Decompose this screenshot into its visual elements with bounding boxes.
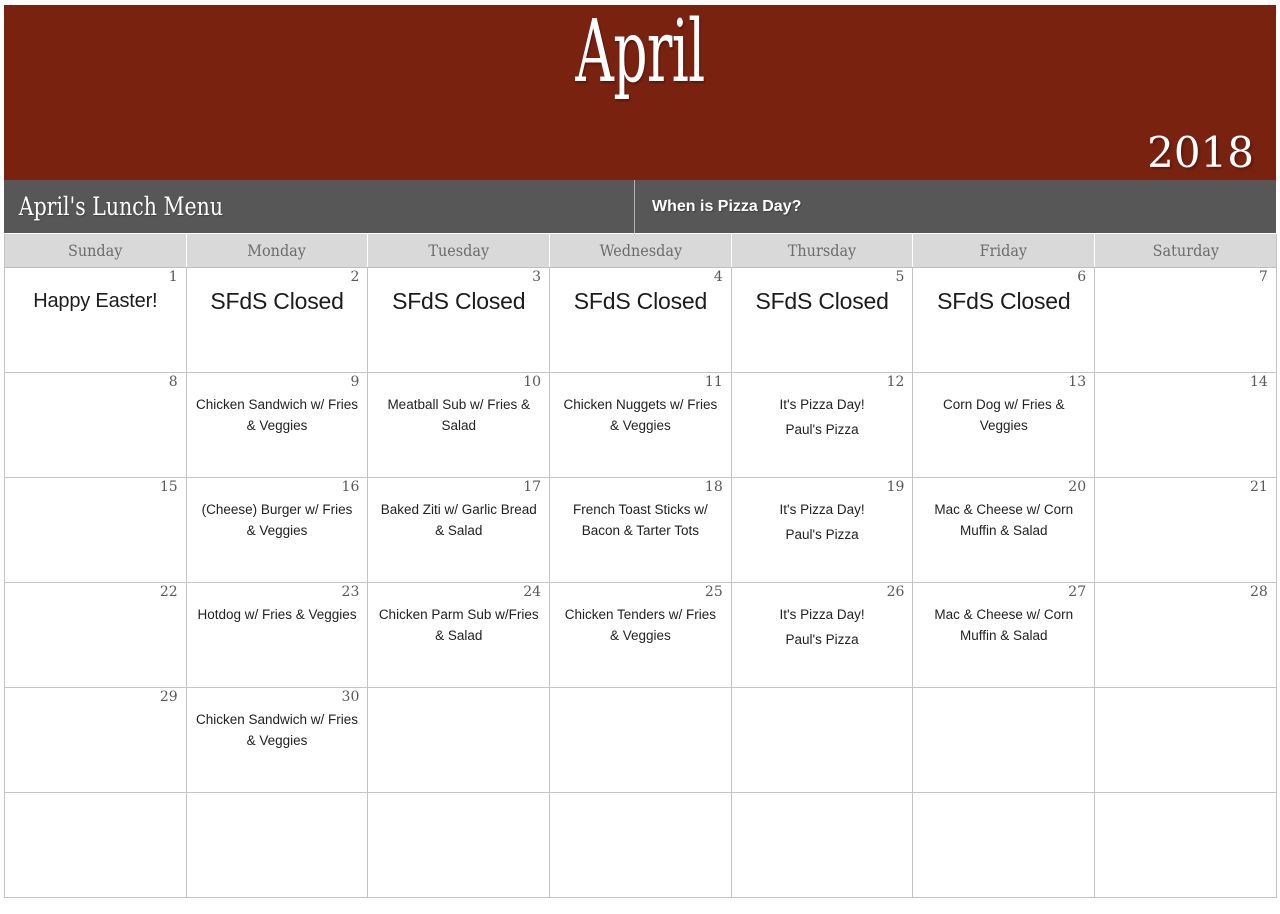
calendar-day-cell[interactable] [368,688,550,793]
weekday-header-friday: Friday [913,234,1095,268]
calendar-day-cell[interactable]: 3SFdS Closed [368,268,550,373]
day-number: 11 [705,375,723,390]
calendar-day-cell[interactable]: 26It's Pizza Day!Paul's Pizza [731,583,913,688]
weekday-label: Saturday [1152,241,1218,260]
calendar-day-cell[interactable]: 25Chicken Tenders w/ Fries & Veggies [550,583,732,688]
calendar-day-cell[interactable]: 5SFdS Closed [731,268,913,373]
day-number: 7 [1259,270,1268,285]
calendar-day-cell[interactable]: 16(Cheese) Burger w/ Fries & Veggies [186,478,368,583]
weekday-header-tuesday: Tuesday [368,234,550,268]
weekday-header-sunday: Sunday [5,234,187,268]
day-number: 25 [705,585,723,600]
day-menu-text: Chicken Nuggets w/ Fries & Veggies [550,373,731,441]
day-number: 24 [523,585,541,600]
calendar-day-cell[interactable]: 19It's Pizza Day!Paul's Pizza [731,478,913,583]
day-number: 2 [350,270,359,285]
subtitle-bar: April's Lunch Menu When is Pizza Day? [4,180,1276,233]
calendar-day-cell[interactable]: 18French Toast Sticks w/ Bacon & Tarter … [550,478,732,583]
day-number: 5 [896,270,905,285]
calendar-week-row [5,793,1277,898]
calendar-day-cell[interactable] [186,793,368,898]
day-number: 19 [887,480,905,495]
weekday-header-monday: Monday [186,234,368,268]
calendar-day-cell[interactable]: 22 [5,583,187,688]
day-menu-text: It's Pizza Day! [732,478,913,525]
calendar-day-cell[interactable]: 8 [5,373,187,478]
calendar-day-cell[interactable]: 24Chicken Parm Sub w/Fries & Salad [368,583,550,688]
day-number: 16 [342,480,360,495]
calendar-day-cell[interactable]: 17Baked Ziti w/ Garlic Bread & Salad [368,478,550,583]
day-number: 28 [1250,585,1268,600]
weekday-label: Sunday [68,241,122,260]
day-number: 9 [350,375,359,390]
calendar-day-cell[interactable]: 12It's Pizza Day!Paul's Pizza [731,373,913,478]
calendar-week-row: 2930Chicken Sandwich w/ Fries & Veggies [5,688,1277,793]
day-number: 30 [342,690,360,705]
calendar-week-row: 2223Hotdog w/ Fries & Veggies24Chicken P… [5,583,1277,688]
calendar-day-cell[interactable]: 1Happy Easter! [5,268,187,373]
day-number: 10 [523,375,541,390]
page-title: April [246,9,1035,95]
weekday-label: Wednesday [599,241,681,260]
month-banner: April 2018 [4,5,1276,180]
day-menu-text-secondary: Paul's Pizza [732,525,913,550]
day-menu-text: It's Pizza Day! [732,373,913,420]
day-number: 26 [887,585,905,600]
day-menu-text: Chicken Parm Sub w/Fries & Salad [368,583,549,651]
pizza-day-question: When is Pizza Day? [652,198,801,216]
day-number: 15 [160,480,178,495]
calendar-day-cell[interactable] [731,688,913,793]
day-menu-text-secondary: Paul's Pizza [732,630,913,655]
day-number: 21 [1250,480,1268,495]
calendar-week-row: 89Chicken Sandwich w/ Fries & Veggies10M… [5,373,1277,478]
calendar-day-cell[interactable] [368,793,550,898]
day-number: 12 [887,375,905,390]
subtitle-divider [634,180,635,233]
calendar-day-cell[interactable] [1095,688,1277,793]
day-number: 22 [160,585,178,600]
weekday-header-saturday: Saturday [1095,234,1277,268]
day-number: 20 [1068,480,1086,495]
calendar-day-cell[interactable]: 30Chicken Sandwich w/ Fries & Veggies [186,688,368,793]
calendar-day-cell[interactable]: 20Mac & Cheese w/ Corn Muffin & Salad [913,478,1095,583]
calendar-day-cell[interactable]: 4SFdS Closed [550,268,732,373]
calendar-day-cell[interactable]: 11Chicken Nuggets w/ Fries & Veggies [550,373,732,478]
day-number: 3 [532,270,541,285]
weekday-label: Tuesday [428,241,489,260]
day-menu-text: Mac & Cheese w/ Corn Muffin & Salad [913,583,1094,651]
calendar-day-cell[interactable] [913,793,1095,898]
day-number: 23 [342,585,360,600]
day-menu-text: Happy Easter! [5,268,186,317]
day-number: 1 [169,270,178,285]
day-number: 6 [1077,270,1086,285]
day-number: 18 [705,480,723,495]
day-number: 27 [1068,585,1086,600]
calendar-body: 1Happy Easter!2SFdS Closed3SFdS Closed4S… [5,268,1277,898]
day-menu-text: Chicken Sandwich w/ Fries & Veggies [187,373,368,441]
calendar-day-cell[interactable]: 14 [1095,373,1277,478]
calendar-day-cell[interactable]: 9Chicken Sandwich w/ Fries & Veggies [186,373,368,478]
calendar-day-cell[interactable]: 28 [1095,583,1277,688]
calendar-day-cell[interactable]: 2SFdS Closed [186,268,368,373]
day-number: 14 [1250,375,1268,390]
weekday-header-row: Sunday Monday Tuesday Wednesday Thursday… [5,234,1277,268]
calendar-header: Sunday Monday Tuesday Wednesday Thursday… [5,234,1277,268]
day-menu-text: Baked Ziti w/ Garlic Bread & Salad [368,478,549,546]
calendar-day-cell[interactable] [913,688,1095,793]
day-number: 4 [714,270,723,285]
calendar-day-cell[interactable] [550,793,732,898]
calendar-day-cell[interactable]: 10Meatball Sub w/ Fries & Salad [368,373,550,478]
weekday-label: Friday [980,241,1027,260]
day-menu-text: Mac & Cheese w/ Corn Muffin & Salad [913,478,1094,546]
weekday-header-wednesday: Wednesday [550,234,732,268]
calendar-day-cell[interactable]: 13Corn Dog w/ Fries & Veggies [913,373,1095,478]
calendar-day-cell[interactable]: 7 [1095,268,1277,373]
day-menu-text: Chicken Tenders w/ Fries & Veggies [550,583,731,651]
day-number: 29 [160,690,178,705]
day-menu-text: SFdS Closed [368,268,549,318]
calendar-day-cell[interactable] [550,688,732,793]
day-number: 13 [1068,375,1086,390]
weekday-label: Monday [248,241,307,260]
day-number: 17 [523,480,541,495]
day-menu-text: It's Pizza Day! [732,583,913,630]
day-menu-text: SFdS Closed [550,268,731,318]
year-label: 2018 [1147,132,1254,174]
day-menu-text: Meatball Sub w/ Fries & Salad [368,373,549,441]
calendar-day-cell[interactable] [5,793,187,898]
day-menu-text: Hotdog w/ Fries & Veggies [187,583,368,630]
calendar-week-row: 1516(Cheese) Burger w/ Fries & Veggies17… [5,478,1277,583]
day-menu-text: SFdS Closed [732,268,913,318]
day-menu-text-secondary: Paul's Pizza [732,420,913,445]
calendar-day-cell[interactable]: 27Mac & Cheese w/ Corn Muffin & Salad [913,583,1095,688]
weekday-label: Thursday [788,241,856,260]
calendar-grid: Sunday Monday Tuesday Wednesday Thursday… [4,234,1277,898]
calendar-week-row: 1Happy Easter!2SFdS Closed3SFdS Closed4S… [5,268,1277,373]
calendar-day-cell[interactable] [1095,793,1277,898]
day-menu-text: Chicken Sandwich w/ Fries & Veggies [187,688,368,756]
calendar-day-cell[interactable] [731,793,913,898]
calendar-day-cell[interactable]: 6SFdS Closed [913,268,1095,373]
calendar-day-cell[interactable]: 15 [5,478,187,583]
day-menu-text: (Cheese) Burger w/ Fries & Veggies [187,478,368,546]
day-number: 8 [169,375,178,390]
lunch-menu-title: April's Lunch Menu [4,192,223,221]
calendar-day-cell[interactable]: 21 [1095,478,1277,583]
day-menu-text: SFdS Closed [187,268,368,318]
day-menu-text: French Toast Sticks w/ Bacon & Tarter To… [550,478,731,546]
calendar-page: April 2018 April's Lunch Menu When is Pi… [0,0,1280,914]
calendar-day-cell[interactable]: 23Hotdog w/ Fries & Veggies [186,583,368,688]
day-menu-text: SFdS Closed [913,268,1094,318]
calendar-day-cell[interactable]: 29 [5,688,187,793]
weekday-header-thursday: Thursday [731,234,913,268]
day-menu-text: Corn Dog w/ Fries & Veggies [913,373,1094,441]
